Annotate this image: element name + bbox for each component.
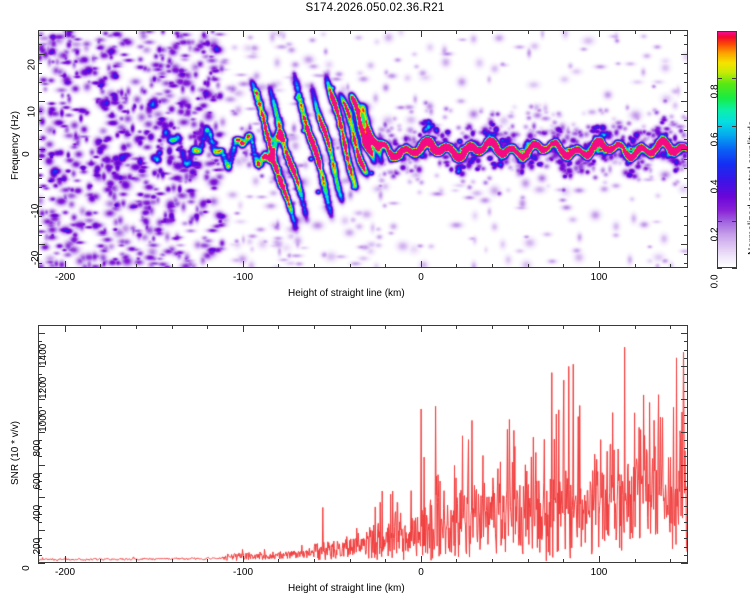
axis-tick-minor xyxy=(528,30,529,34)
colorbar-tick xyxy=(717,268,722,269)
axis-tick-minor xyxy=(635,30,636,34)
axis-tick-minor xyxy=(684,73,688,74)
axis-tick-major xyxy=(681,101,688,102)
axis-tick-minor xyxy=(207,264,208,268)
axis-tick-minor xyxy=(38,73,42,74)
axis-tick-minor xyxy=(136,30,137,34)
axis-tick-minor xyxy=(528,264,529,268)
spectrogram-yaxis-label: Frequency (Hz) xyxy=(10,111,21,180)
axis-tick-minor xyxy=(207,325,208,329)
axis-tick-minor xyxy=(684,130,688,131)
axis-tick-minor xyxy=(684,111,688,112)
axis-tick-minor xyxy=(38,325,42,326)
x-tick-label: -100 xyxy=(229,272,257,283)
colorbar-tick xyxy=(717,78,722,79)
axis-tick-major xyxy=(599,325,600,332)
axis-tick-minor xyxy=(684,168,688,169)
axis-tick-minor xyxy=(684,139,688,140)
axis-tick-minor xyxy=(172,325,173,329)
axis-tick-major xyxy=(243,30,244,37)
y-tick-label: 1400 xyxy=(38,344,49,366)
axis-tick-minor xyxy=(385,30,386,34)
colorbar-tick xyxy=(732,78,737,79)
axis-tick-major xyxy=(681,563,688,564)
colorbar-tick-label: 0.4 xyxy=(709,179,720,193)
axis-tick-minor xyxy=(684,448,688,449)
axis-tick-minor xyxy=(492,264,493,268)
axis-tick-major xyxy=(65,556,66,563)
axis-tick-minor xyxy=(684,440,688,441)
axis-tick-major xyxy=(65,261,66,268)
axis-tick-minor xyxy=(684,341,688,342)
axis-tick-minor xyxy=(684,407,688,408)
axis-tick-major xyxy=(599,30,600,37)
axis-tick-minor xyxy=(38,522,42,523)
axis-tick-minor xyxy=(385,325,386,329)
y-tick-label: 0 xyxy=(21,151,32,157)
axis-tick-minor xyxy=(563,325,564,329)
axis-tick-minor xyxy=(563,30,564,34)
axis-tick-minor xyxy=(136,559,137,563)
y-tick-label: 200 xyxy=(32,538,43,555)
axis-tick-minor xyxy=(314,559,315,563)
axis-tick-major xyxy=(681,366,688,367)
axis-tick-major xyxy=(421,325,422,332)
axis-tick-minor xyxy=(684,415,688,416)
axis-tick-minor xyxy=(492,325,493,329)
axis-tick-minor xyxy=(684,216,688,217)
axis-tick-major xyxy=(243,325,244,332)
x-tick-label: 100 xyxy=(585,272,613,283)
spectrogram-xaxis-label: Height of straight line (km) xyxy=(288,288,405,299)
axis-tick-minor xyxy=(38,92,42,93)
figure-title: S174.2026.050.02.36.R21 xyxy=(0,2,750,14)
axis-tick-minor xyxy=(684,263,688,264)
axis-tick-minor xyxy=(100,30,101,34)
axis-tick-minor xyxy=(385,264,386,268)
axis-tick-minor xyxy=(670,264,671,268)
y-tick-label: 800 xyxy=(32,440,43,457)
axis-tick-minor xyxy=(350,264,351,268)
axis-tick-minor xyxy=(684,82,688,83)
axis-tick-minor xyxy=(684,522,688,523)
axis-tick-minor xyxy=(38,225,42,226)
axis-tick-major xyxy=(65,30,66,37)
x-tick-label: 0 xyxy=(407,272,435,283)
colorbar-tick-label: 0.6 xyxy=(709,132,720,146)
axis-tick-minor xyxy=(350,559,351,563)
x-tick-label: 100 xyxy=(585,567,613,578)
axis-tick-minor xyxy=(684,206,688,207)
axis-tick-minor xyxy=(684,506,688,507)
axis-tick-minor xyxy=(207,559,208,563)
axis-tick-minor xyxy=(492,30,493,34)
axis-tick-minor xyxy=(172,30,173,34)
axis-tick-minor xyxy=(684,358,688,359)
colorbar-gradient xyxy=(718,32,736,267)
axis-tick-major xyxy=(681,465,688,466)
axis-tick-minor xyxy=(278,30,279,34)
axis-tick-major xyxy=(38,149,45,150)
axis-tick-minor xyxy=(350,325,351,329)
axis-tick-minor xyxy=(528,559,529,563)
axis-tick-minor xyxy=(38,178,42,179)
axis-tick-minor xyxy=(100,559,101,563)
axis-tick-minor xyxy=(684,187,688,188)
axis-tick-major xyxy=(681,149,688,150)
axis-tick-minor xyxy=(492,559,493,563)
axis-tick-major xyxy=(599,261,600,268)
x-tick-label: -200 xyxy=(51,567,79,578)
axis-tick-minor xyxy=(38,159,42,160)
axis-tick-minor xyxy=(38,63,42,64)
snr-panel xyxy=(38,325,688,563)
colorbar-tick xyxy=(732,173,737,174)
colorbar-tick xyxy=(717,221,722,222)
x-tick-label: 0 xyxy=(407,567,435,578)
axis-tick-minor xyxy=(563,264,564,268)
axis-tick-major xyxy=(681,497,688,498)
axis-tick-major xyxy=(681,197,688,198)
figure-canvas: S174.2026.050.02.36.R21 -200-1000100-20-… xyxy=(0,0,750,600)
axis-tick-minor xyxy=(563,559,564,563)
y-tick-label: 400 xyxy=(32,505,43,522)
axis-tick-minor xyxy=(684,489,688,490)
axis-tick-major xyxy=(38,530,45,531)
axis-tick-minor xyxy=(684,456,688,457)
axis-tick-minor xyxy=(38,111,42,112)
colorbar-tick xyxy=(717,173,722,174)
y-tick-label: 1200 xyxy=(38,377,49,399)
axis-tick-minor xyxy=(207,30,208,34)
axis-tick-major xyxy=(38,497,45,498)
axis-tick-minor xyxy=(684,120,688,121)
axis-tick-minor xyxy=(38,168,42,169)
axis-tick-minor xyxy=(456,325,457,329)
axis-tick-minor xyxy=(38,235,42,236)
axis-tick-major xyxy=(681,399,688,400)
colorbar-tick-label: 0.8 xyxy=(709,84,720,98)
x-tick-label: -200 xyxy=(51,272,79,283)
axis-tick-major xyxy=(599,556,600,563)
axis-tick-minor xyxy=(684,423,688,424)
axis-tick-minor xyxy=(684,254,688,255)
axis-tick-major xyxy=(65,325,66,332)
axis-tick-minor xyxy=(38,374,42,375)
axis-tick-minor xyxy=(684,547,688,548)
axis-tick-minor xyxy=(684,92,688,93)
colorbar-tick xyxy=(732,221,737,222)
axis-tick-minor xyxy=(278,264,279,268)
colorbar-tick xyxy=(732,126,737,127)
axis-tick-minor xyxy=(38,187,42,188)
snr-yaxis-label: SNR (10 * v/v) xyxy=(10,421,21,485)
spectrogram-panel xyxy=(38,30,688,268)
axis-tick-major xyxy=(681,530,688,531)
axis-tick-major xyxy=(38,465,45,466)
y-tick-label: -10 xyxy=(30,204,41,218)
axis-tick-major xyxy=(38,101,45,102)
axis-tick-minor xyxy=(456,264,457,268)
axis-tick-major xyxy=(681,333,688,334)
axis-tick-major xyxy=(38,399,45,400)
x-tick-label: -100 xyxy=(229,567,257,578)
axis-tick-minor xyxy=(38,555,42,556)
axis-tick-major xyxy=(38,244,45,245)
y-tick-label: -20 xyxy=(30,251,41,265)
axis-tick-minor xyxy=(528,325,529,329)
axis-tick-minor xyxy=(38,139,42,140)
axis-tick-major xyxy=(38,432,45,433)
axis-tick-minor xyxy=(314,30,315,34)
spectrogram-image xyxy=(39,31,687,267)
axis-tick-minor xyxy=(670,30,671,34)
axis-tick-major xyxy=(38,54,45,55)
axis-tick-minor xyxy=(136,325,137,329)
axis-tick-minor xyxy=(38,407,42,408)
axis-tick-minor xyxy=(684,225,688,226)
axis-tick-minor xyxy=(684,35,688,36)
axis-tick-major xyxy=(681,54,688,55)
axis-tick-minor xyxy=(314,325,315,329)
axis-tick-minor xyxy=(456,30,457,34)
snr-xaxis-label: Height of straight line (km) xyxy=(288,583,405,594)
axis-tick-minor xyxy=(278,559,279,563)
axis-tick-major xyxy=(421,30,422,37)
axis-tick-minor xyxy=(684,159,688,160)
axis-tick-major xyxy=(38,197,45,198)
y-tick-label: 600 xyxy=(32,473,43,490)
axis-tick-minor xyxy=(684,350,688,351)
axis-tick-minor xyxy=(100,325,101,329)
axis-tick-minor xyxy=(385,559,386,563)
axis-tick-minor xyxy=(684,391,688,392)
axis-tick-minor xyxy=(635,325,636,329)
axis-tick-minor xyxy=(684,178,688,179)
axis-tick-major xyxy=(421,261,422,268)
axis-tick-minor xyxy=(684,481,688,482)
axis-tick-minor xyxy=(172,559,173,563)
axis-tick-minor xyxy=(136,264,137,268)
axis-tick-minor xyxy=(684,374,688,375)
axis-tick-minor xyxy=(684,555,688,556)
y-tick-label: 20 xyxy=(27,59,38,70)
axis-tick-minor xyxy=(670,325,671,329)
colorbar-tick xyxy=(732,268,737,269)
axis-tick-minor xyxy=(456,559,457,563)
axis-tick-minor xyxy=(314,264,315,268)
axis-tick-major xyxy=(421,556,422,563)
axis-tick-minor xyxy=(38,82,42,83)
axis-tick-minor xyxy=(684,325,688,326)
axis-tick-minor xyxy=(38,35,42,36)
axis-tick-minor xyxy=(635,559,636,563)
axis-tick-minor xyxy=(684,63,688,64)
axis-tick-minor xyxy=(684,235,688,236)
axis-tick-major xyxy=(243,261,244,268)
y-tick-label: 1000 xyxy=(38,410,49,432)
axis-tick-minor xyxy=(635,264,636,268)
axis-tick-minor xyxy=(100,264,101,268)
y-tick-label: 10 xyxy=(27,106,38,117)
axis-tick-minor xyxy=(278,325,279,329)
axis-tick-minor xyxy=(172,264,173,268)
axis-tick-minor xyxy=(38,44,42,45)
axis-tick-minor xyxy=(684,382,688,383)
axis-tick-major xyxy=(38,333,45,334)
axis-tick-minor xyxy=(684,538,688,539)
axis-tick-minor xyxy=(38,341,42,342)
axis-tick-minor xyxy=(350,30,351,34)
axis-tick-major xyxy=(243,556,244,563)
axis-tick-minor xyxy=(684,514,688,515)
axis-tick-minor xyxy=(670,559,671,563)
axis-tick-major xyxy=(38,366,45,367)
colorbar-tick-label: 0.2 xyxy=(709,227,720,241)
y-tick-label: 0 xyxy=(21,565,32,571)
axis-tick-major xyxy=(681,432,688,433)
axis-tick-minor xyxy=(684,473,688,474)
colorbar-tick xyxy=(717,126,722,127)
snr-line-plot xyxy=(39,326,687,562)
axis-tick-minor xyxy=(684,44,688,45)
axis-tick-major xyxy=(681,244,688,245)
colorbar-tick-label: 0.0 xyxy=(709,274,720,288)
axis-tick-major xyxy=(38,563,45,564)
axis-tick-minor xyxy=(38,130,42,131)
axis-tick-minor xyxy=(38,120,42,121)
